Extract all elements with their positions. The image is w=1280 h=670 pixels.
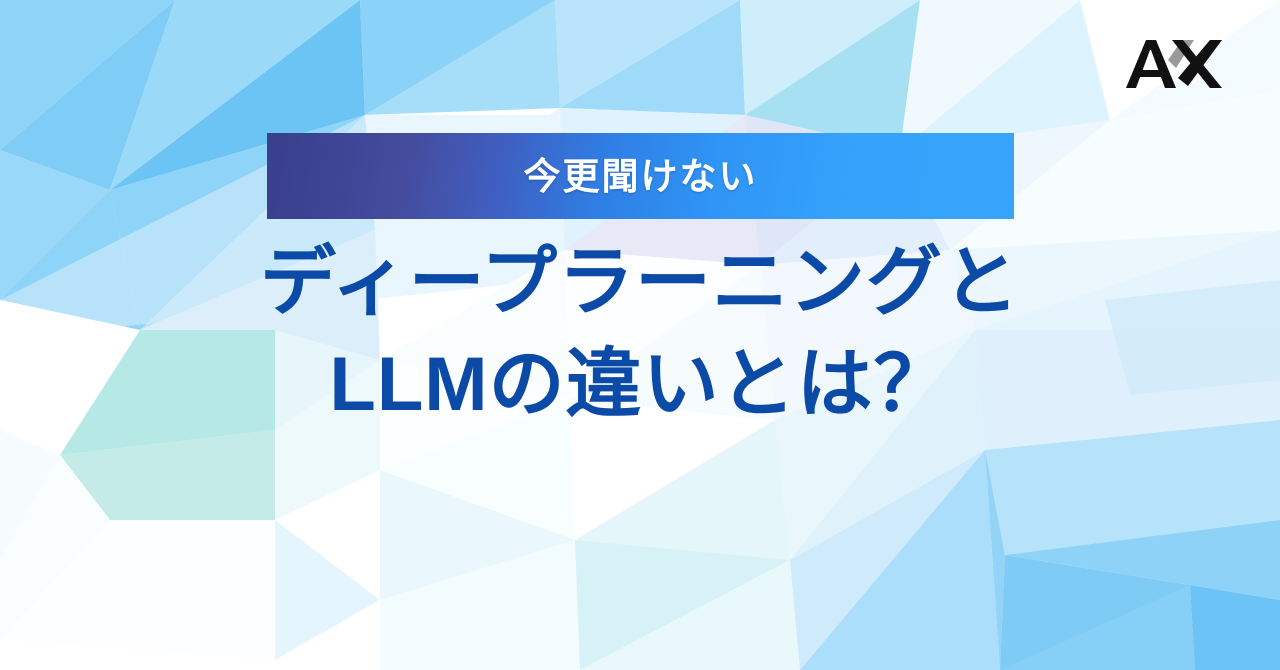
page-title: ディープラーニングと LLMの違いとは？	[0, 238, 1280, 429]
page-title-line-1: ディープラーニングと	[0, 238, 1280, 328]
logo-letter-x	[1172, 40, 1222, 88]
ax-logo	[1126, 32, 1222, 96]
logo-letter-a	[1126, 40, 1176, 88]
eyebrow-text: 今更聞けない	[524, 158, 758, 195]
eyebrow-banner: 今更聞けない	[267, 133, 1014, 219]
page-title-line-2: LLMの違いとは？	[0, 340, 1280, 430]
thumbnail-canvas: 今更聞けない ディープラーニングと LLMの違いとは？	[0, 0, 1280, 670]
